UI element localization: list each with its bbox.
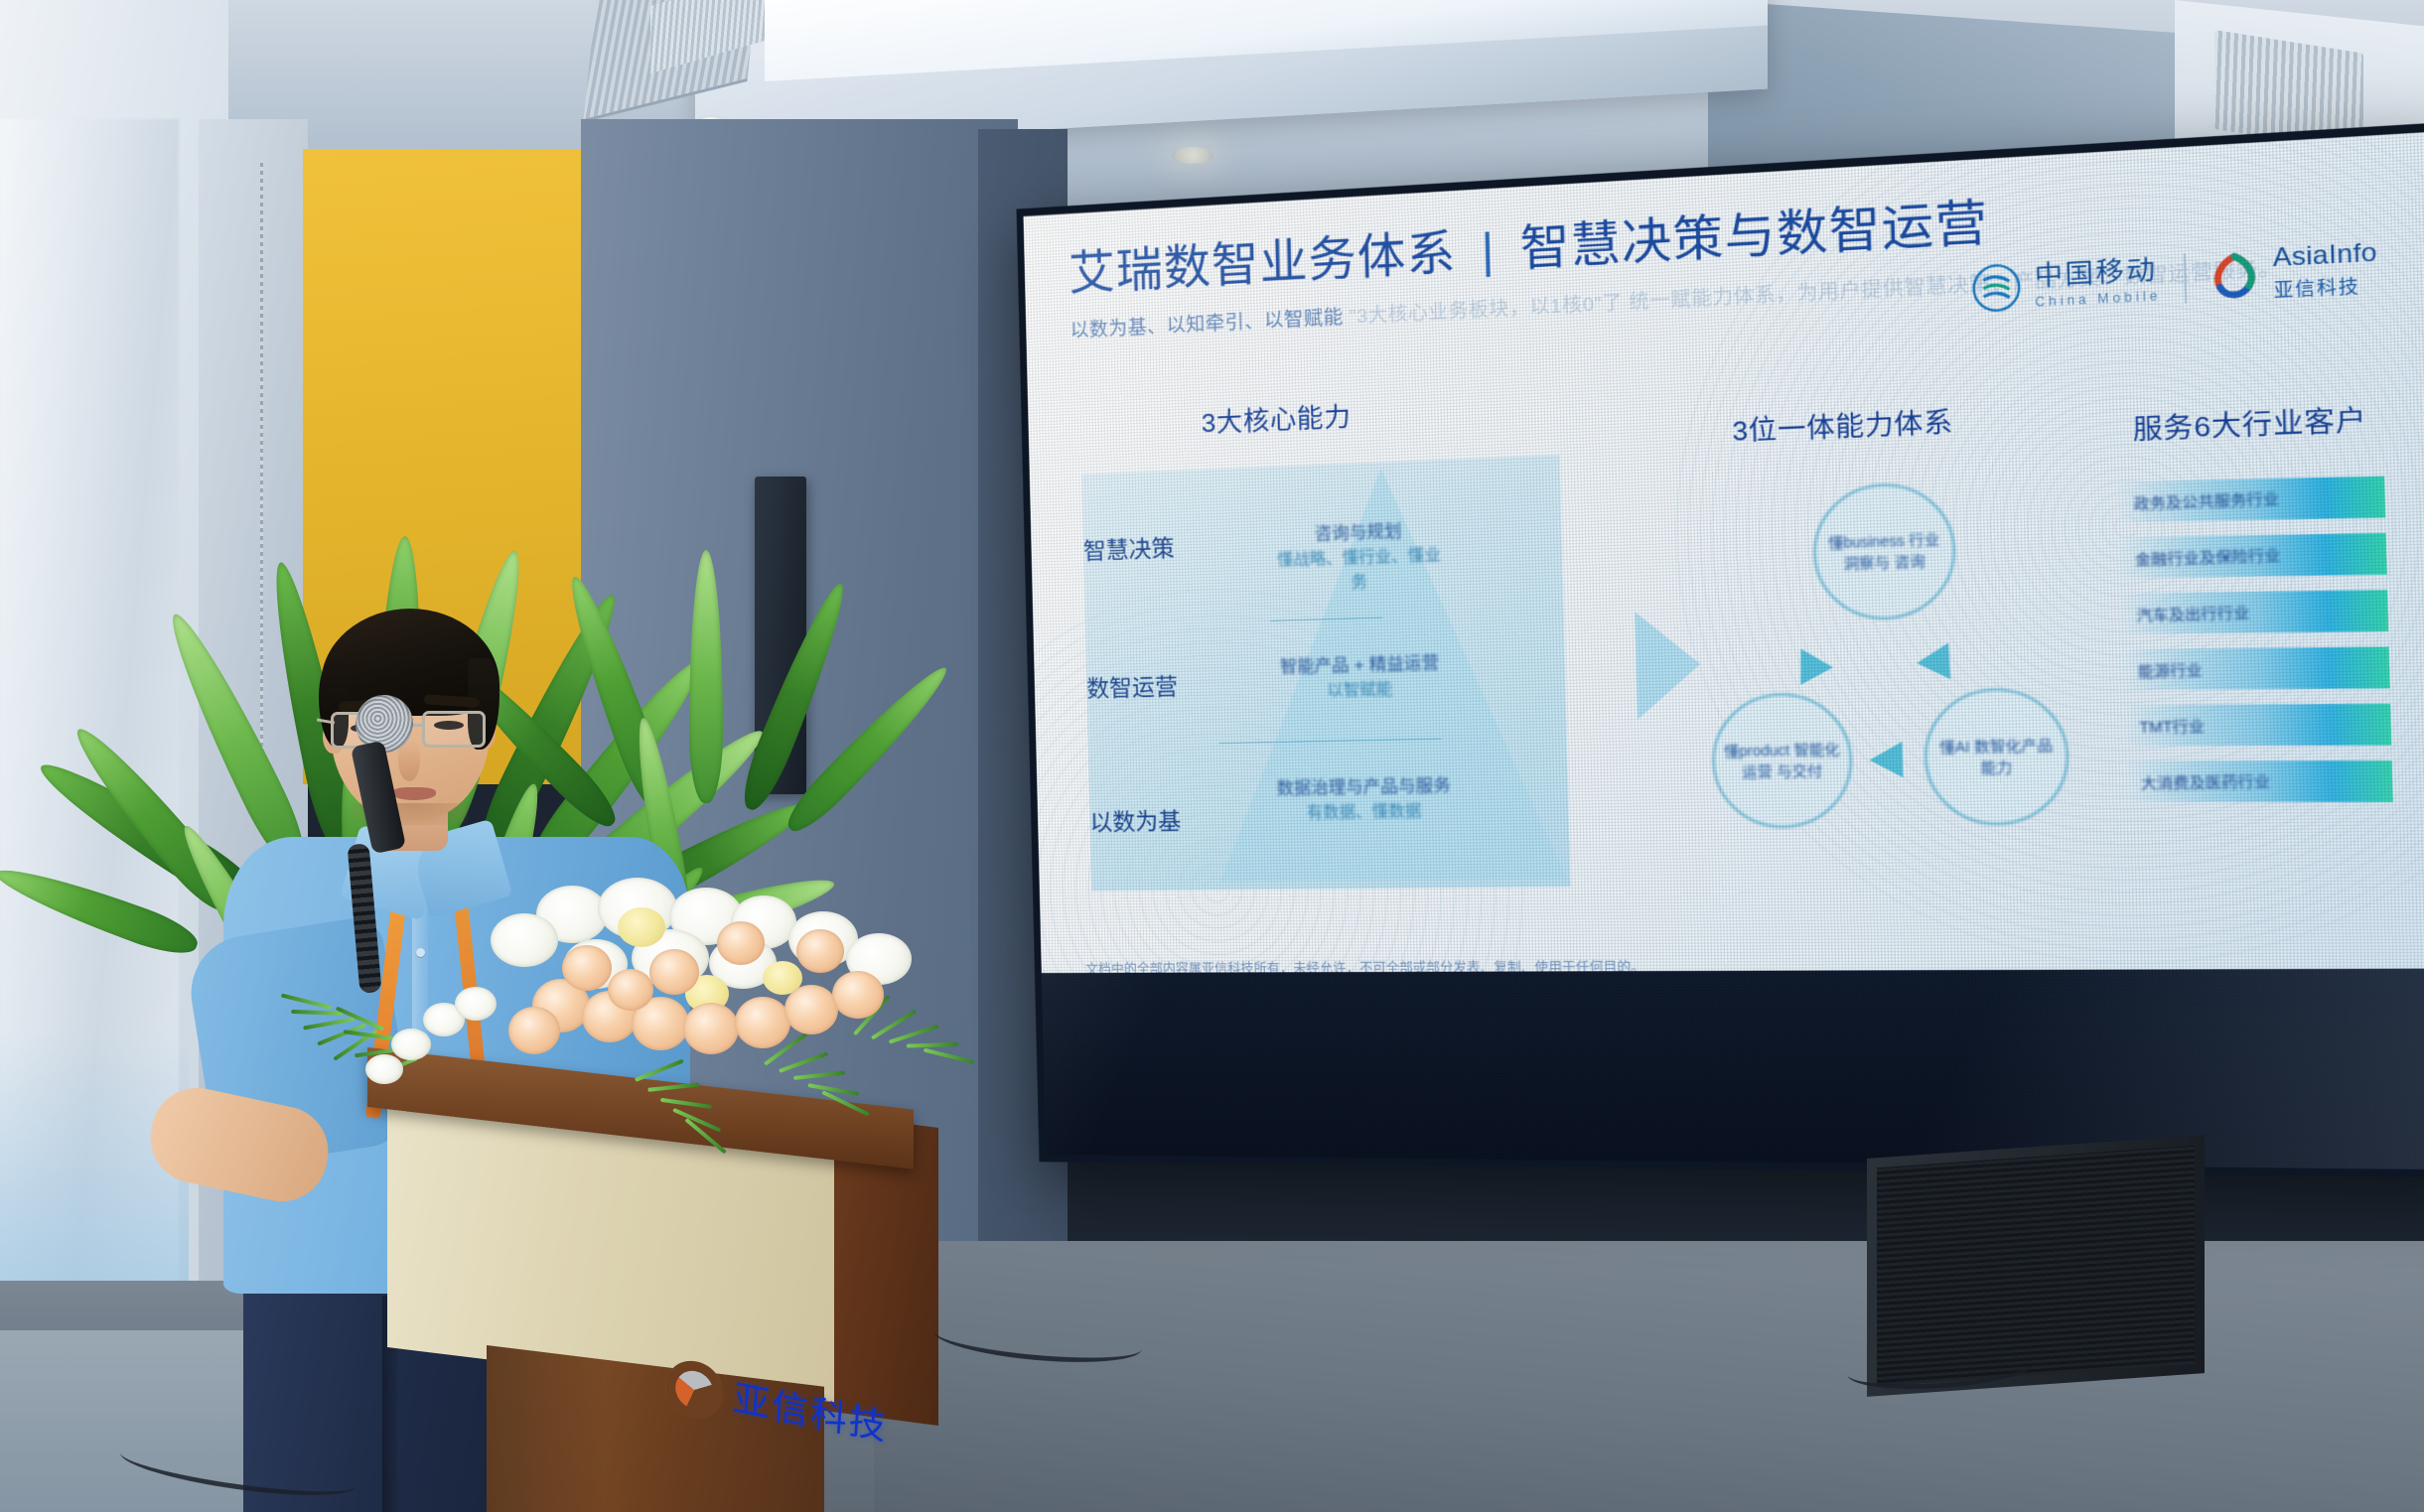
rose-flower [832, 971, 884, 1019]
orchid-floret [455, 987, 497, 1021]
microphone-gooseneck[interactable] [348, 843, 382, 993]
industry-bar: 汽车及出行行业 [2120, 586, 2388, 638]
slide-title-separator: | [1481, 222, 1496, 278]
rose-flower [784, 985, 838, 1034]
microphone-body [351, 741, 406, 855]
china-mobile-mark-icon [1970, 262, 2023, 314]
led-wall-lower-dark-panel [1035, 968, 2424, 1177]
asiainfo-name-en: AsiaInfo [2272, 240, 2377, 272]
slide-title-secondary: 智慧决策与数智运营 [1519, 194, 1989, 275]
slide-logo-row: 中国移动 China Mobile [1970, 240, 2378, 317]
pyramid-diagram: 智慧决策 数智运营 以数为基 咨询与规划 懂战略、懂行业、懂业务 智能产品 + … [1073, 452, 1658, 913]
industry-bar-label: TMT行业 [2123, 715, 2205, 738]
pyramid-cell-2-line2: 有数据、懂数据 [1187, 797, 1546, 827]
heading-trinity-system: 3位一体能力体系 [1732, 401, 1953, 450]
logo-divider [2184, 253, 2188, 303]
pyramid-row-label-2: 以数为基 [1089, 802, 1182, 838]
industry-bar: 金融行业及保险行业 [2118, 528, 2386, 582]
industry-bar: 大消费及医药行业 [2124, 756, 2393, 806]
rose-flower [683, 1003, 739, 1054]
cycle-arrow-0 [1784, 640, 1833, 685]
industry-bar-label: 大消费及医药行业 [2124, 770, 2270, 794]
pyramid-row-label-1: 数智运营 [1086, 667, 1179, 704]
industry-bar: TMT行业 [2123, 699, 2392, 750]
industry-bar-label: 政务及公共服务行业 [2117, 487, 2279, 515]
slide-body: 3大核心能力 3位一体能力体系 服务6大行业客户 智慧决策 数智运营 以数为基 [1072, 348, 2409, 926]
rose-flower [649, 949, 699, 995]
asiainfo-circle-emblem-icon [663, 1356, 725, 1425]
flower-arrangement [387, 884, 1023, 1132]
eyeglass-lens-right [422, 711, 486, 748]
downlight-icon [1172, 147, 1213, 164]
china-mobile-name-en: China Mobile [2035, 288, 2161, 309]
rose-flower [608, 969, 653, 1011]
asiainfo-name-cn: 亚信科技 [2273, 270, 2378, 303]
pyramid-cell-2: 数据治理与产品与服务 有数据、懂数据 [1186, 771, 1545, 827]
pyramid-row-label-0: 智慧决策 [1082, 529, 1174, 566]
industry-bar-label: 汽车及出行行业 [2120, 602, 2249, 626]
cycle-node-0: 懂business 行业洞察与 咨询 [1812, 481, 1957, 621]
photo-scene: 艾瑞数智业务体系 | 智慧决策与数智运营 以数为基、以知牵引、以智赋能 "3大核… [0, 0, 2424, 1512]
led-video-wall: 艾瑞数智业务体系 | 智慧决策与数智运营 以数为基、以知牵引、以智赋能 "3大核… [1016, 122, 2424, 1177]
industry-bar: 能源行业 [2121, 642, 2390, 694]
industry-bar-label: 金融行业及保险行业 [2119, 544, 2281, 571]
china-mobile-logo: 中国移动 China Mobile [1970, 255, 2162, 314]
presentation-slide: 艾瑞数智业务体系 | 智慧决策与数智运营 以数为基、以知牵引、以智赋能 "3大核… [1023, 131, 2424, 991]
industry-bar: 政务及公共服务行业 [2117, 472, 2385, 526]
cycle-node-1: 懂product 智能化运营 与交付 [1711, 692, 1854, 829]
heading-core-capabilities: 3大核心能力 [1201, 396, 1352, 440]
pyramid-cell-0-line2: 懂战略、懂行业、懂业务 [1271, 543, 1449, 598]
asiainfo-mark-icon [2209, 250, 2261, 301]
cycle-arrow-2 [1869, 742, 1903, 778]
rose-flower [796, 929, 844, 973]
pyramid-cell-1: 智能产品 + 精益运营 以智赋能 [1223, 648, 1499, 706]
china-mobile-name-cn: 中国移动 [2034, 256, 2161, 290]
asiainfo-logo: AsiaInfo 亚信科技 [2209, 240, 2378, 306]
pyramid-cell-0: 咨询与规划 懂战略、懂行业、懂业务 [1270, 517, 1448, 598]
rose-flower [717, 921, 765, 965]
rose-flower [735, 997, 790, 1048]
industry-bar-list: 政务及公共服务行业 金融行业及保险行业 汽车及出行行业 能源行业 TMT行业 大… [2117, 472, 2393, 817]
trinity-cycle-diagram: 懂business 行业洞察与 咨询 懂product 智能化运营 与交付 懂A… [1690, 477, 2099, 908]
heading-industry-customers: 服务6大行业客户 [2132, 398, 2367, 448]
chevron-right-icon [1635, 610, 1701, 720]
lectern-base-shadow [487, 1345, 606, 1512]
rose-flower [508, 1007, 560, 1054]
cycle-arrow-1 [1917, 634, 1965, 679]
slide-title-main: 艾瑞数智业务体系 [1069, 224, 1458, 300]
orchid-floret [365, 1054, 403, 1084]
orchid-floret [391, 1029, 431, 1060]
yellow-flower [618, 907, 665, 947]
lily-flower [491, 913, 558, 967]
rose-flower [562, 945, 612, 991]
slide-subtitle-lead: 以数为基、以知牵引、以智赋能 [1069, 307, 1344, 342]
industry-bar-label: 能源行业 [2122, 659, 2203, 683]
cycle-node-2: 懂AI 数智化产品 能力 [1923, 687, 2069, 826]
